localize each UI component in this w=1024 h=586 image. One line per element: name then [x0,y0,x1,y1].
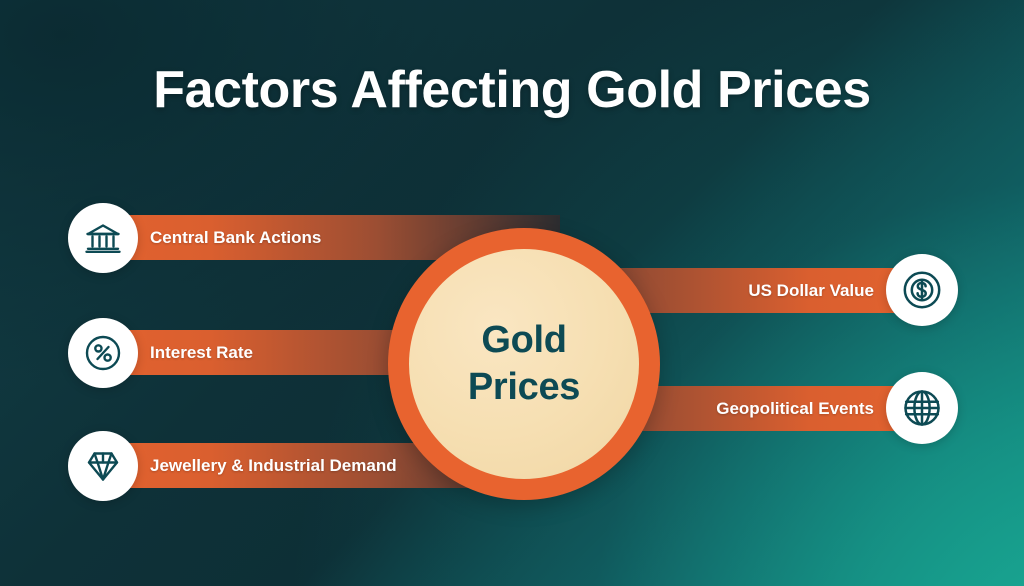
center-title-line-2: Prices [468,366,580,409]
page-title: Factors Affecting Gold Prices [0,60,1024,120]
bank-icon [68,203,138,273]
percent-icon [68,318,138,388]
center-node-inner: Gold Prices [409,249,639,479]
factor-label-interest-rate: Interest Rate [150,343,253,363]
infographic-canvas: Factors Affecting Gold Prices Central Ba… [0,0,1024,586]
factor-label-jewellery-industrial-demand: Jewellery & Industrial Demand [150,456,397,476]
dollar-coin-icon [886,254,958,326]
diamond-icon [68,431,138,501]
factor-label-central-bank-actions: Central Bank Actions [150,228,321,248]
globe-icon [886,372,958,444]
center-node-gold-prices: Gold Prices [388,228,660,500]
center-title-line-1: Gold [481,319,566,362]
factor-label-us-dollar-value: US Dollar Value [748,281,874,301]
factor-label-geopolitical-events: Geopolitical Events [716,399,874,419]
